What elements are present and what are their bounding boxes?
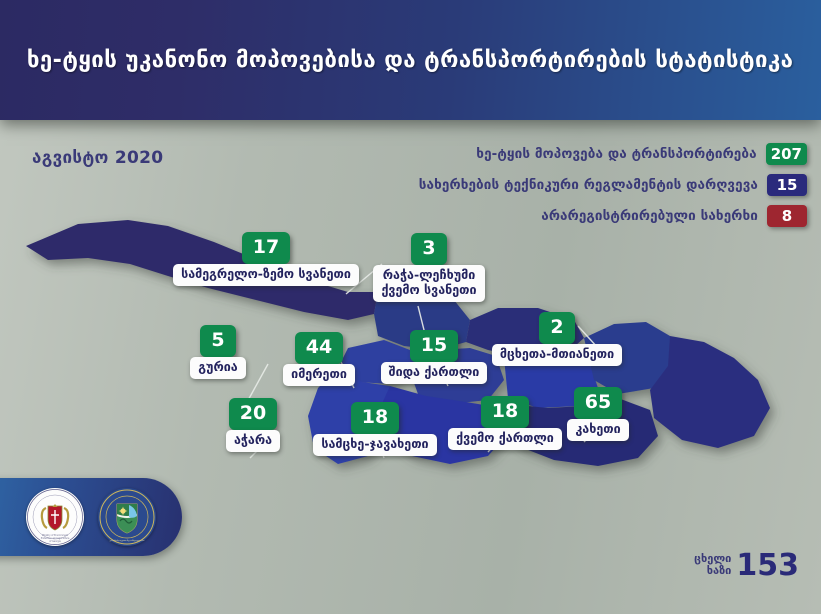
legend-badge-green: 207 [766, 143, 807, 165]
page-title: ხე-ტყის უკანონო მოპოვებისა და ტრანსპორტი… [27, 47, 794, 73]
svg-text:გარემოსდაცვითი ზედამხედველობა: გარემოსდაცვითი ზედამხედველობა [110, 539, 145, 542]
period-label: აგვისტო 2020 [32, 148, 163, 168]
region-name-label: შიდა ქართლი [381, 362, 488, 384]
callout-samegrelo-zemo-svaneti: 17 სამეგრელო-ზემო სვანეთი [179, 232, 353, 286]
region-value-badge: 18 [351, 402, 399, 434]
header-banner: ხე-ტყის უკანონო მოპოვებისა და ტრანსპორტი… [0, 0, 821, 120]
region-value-badge: 65 [574, 387, 622, 419]
region-value-badge: 15 [410, 330, 458, 362]
legend-label: არარეგისტრირებული სახერხი [541, 208, 758, 224]
hotline-label-line2: ხაზი [694, 565, 731, 577]
callout-kakheti: 65 კახეთი [568, 387, 628, 441]
callout-shida-kartli: 15 შიდა ქართლი [386, 330, 482, 384]
region-name-label: გურია [190, 357, 245, 379]
department-emblem-icon: გარემოსდაცვითი ზედამხედველობა [98, 488, 156, 546]
callout-racha-lechkhumi: 3 რაჭა-ლეჩხუმი ქვემო სვანეთი [376, 233, 482, 302]
legend: ხე-ტყის მოპოვება და ტრანსპორტირება 207 ს… [419, 143, 807, 227]
region-name-label: იმერეთი [283, 364, 355, 386]
infographic-poster: ხე-ტყის უკანონო მოპოვებისა და ტრანსპორტი… [0, 0, 821, 614]
region-value-badge: 17 [242, 232, 290, 264]
callout-mtskheta-mtianeti: 2 მცხეთა-მთიანეთი [487, 312, 627, 366]
callout-guria: 5 გურია [193, 325, 243, 379]
callout-samtskhe-javakheti: 18 სამცხე-ჯავახეთი [316, 402, 434, 456]
region-value-badge: 3 [411, 233, 446, 265]
hotline-number: 153 [736, 553, 799, 579]
region-name-label: აჭარა [226, 430, 280, 452]
hotline-label: ცხელი ხაზი [694, 553, 731, 577]
callout-adjara: 20 აჭარა [226, 398, 280, 452]
hotline: ცხელი ხაზი 153 [694, 553, 799, 579]
callout-kvemo-kartli: 18 ქვემო ქართლი [453, 396, 557, 450]
logo-panel: Ministry of Environment Protection and A… [0, 478, 182, 556]
ministry-coat-of-arms-seal: Ministry of Environment Protection and A… [26, 488, 84, 546]
region-value-badge: 5 [200, 325, 235, 357]
region-name-label: რაჭა-ლეჩხუმი ქვემო სვანეთი [373, 265, 484, 302]
region-value-badge: 2 [539, 312, 574, 344]
legend-label: სახერხების ტექნიკური რეგლამენტის დარღვევ… [419, 177, 758, 193]
legend-badge-red: 8 [767, 205, 807, 227]
region-value-badge: 44 [295, 332, 343, 364]
region-name-label: კახეთი [567, 419, 628, 441]
svg-text:of Georgia: of Georgia [49, 540, 61, 543]
legend-item-unregistered-sawmill: არარეგისტრირებული სახერხი 8 [419, 205, 807, 227]
region-name-label: მცხეთა-მთიანეთი [492, 344, 622, 366]
coat-of-arms-icon: Ministry of Environment Protection and A… [26, 488, 84, 546]
region-value-badge: 20 [229, 398, 277, 430]
region-name-label: ქვემო ქართლი [448, 428, 562, 450]
callout-imereti: 44 იმერეთი [287, 332, 351, 386]
legend-item-logging: ხე-ტყის მოპოვება და ტრანსპორტირება 207 [419, 143, 807, 165]
region-name-label: სამცხე-ჯავახეთი [313, 434, 436, 456]
environmental-supervision-seal: გარემოსდაცვითი ზედამხედველობა [98, 488, 156, 546]
legend-item-sawmill-regulation: სახერხების ტექნიკური რეგლამენტის დარღვევ… [419, 174, 807, 196]
region-value-badge: 18 [481, 396, 529, 428]
legend-label: ხე-ტყის მოპოვება და ტრანსპორტირება [476, 146, 756, 162]
legend-badge-navy: 15 [767, 174, 807, 196]
region-name-label: სამეგრელო-ზემო სვანეთი [173, 264, 359, 286]
